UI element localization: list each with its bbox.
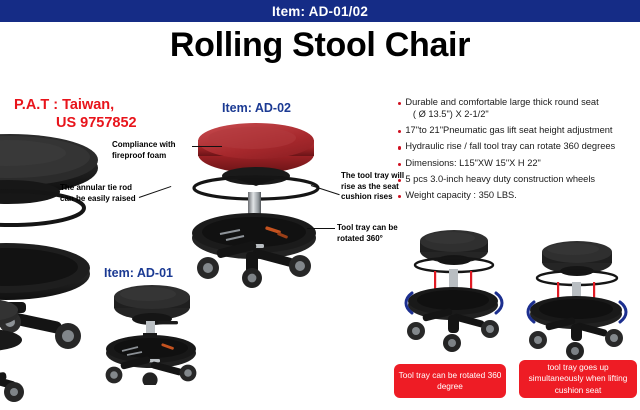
- spec-text: 17"to 21"Pneumatic gas lift seat height …: [405, 126, 640, 136]
- spec-item: 5 pcs 3.0-inch heavy duty construction w…: [398, 175, 640, 185]
- product-photo-stool-lift-demo: [520, 232, 632, 360]
- spec-text: Dimensions: L15"XW 15"X H 22": [405, 159, 640, 169]
- item-banner-text: Item: AD-01/02: [272, 4, 368, 19]
- bullet-dot-icon: [398, 179, 401, 182]
- spec-text: 5 pcs 3.0-inch heavy duty construction w…: [405, 175, 640, 185]
- spec-text: Durable and comfortable large thick roun…: [405, 97, 598, 107]
- bullet-dot-icon: [398, 102, 401, 105]
- leader-line-tierod: [139, 186, 171, 198]
- specification-list: Durable and comfortable large thick roun…: [398, 98, 640, 207]
- bullet-dot-icon: [398, 146, 401, 149]
- patent-line-1: P.A.T : Taiwan,: [14, 97, 114, 113]
- leader-line-rotate: [307, 228, 335, 229]
- spec-text: Weight capacity : 350 LBS.: [405, 191, 640, 201]
- product-photo-stool-partial: [0, 300, 60, 405]
- spec-item: Dimensions: L15"XW 15"X H 22": [398, 159, 640, 169]
- spec-subtext: ( Ø 13.5") X 2-1/2": [413, 110, 640, 120]
- product-photo-stool-ad02: [182, 118, 330, 288]
- caption-box-rotate: Tool tray can be rotated 360 degree: [394, 364, 506, 398]
- spec-text: Hydraulic rise / fall tool tray can rota…: [405, 142, 640, 152]
- item-banner: Item: AD-01/02: [0, 0, 640, 22]
- spec-item: 17"to 21"Pneumatic gas lift seat height …: [398, 126, 640, 136]
- leader-line-foam: [192, 146, 222, 147]
- page-title: Rolling Stool Chair: [0, 26, 640, 65]
- bullet-dot-icon: [398, 130, 401, 133]
- bullet-dot-icon: [398, 195, 401, 198]
- callout-annular-tie-rod: The annular tie rod can be easily raised: [60, 183, 138, 204]
- product-photo-stool-rotate-demo: [398, 227, 508, 359]
- item-label-ad01: Item: AD-01: [104, 266, 173, 280]
- spec-item: Weight capacity : 350 LBS.: [398, 191, 640, 201]
- spec-item: Hydraulic rise / fall tool tray can rota…: [398, 142, 640, 152]
- callout-tray-rotates: Tool tray can be rotated 360°: [337, 223, 413, 244]
- item-label-ad02: Item: AD-02: [222, 101, 291, 115]
- spec-item: Durable and comfortable large thick roun…: [398, 98, 640, 120]
- callout-fireproof-foam: Compliance with fireproof foam: [112, 140, 190, 161]
- product-photo-stool-ad01: [96, 281, 208, 385]
- bullet-dot-icon: [398, 163, 401, 166]
- caption-box-lift: tool tray goes up simultaneously when li…: [519, 360, 637, 398]
